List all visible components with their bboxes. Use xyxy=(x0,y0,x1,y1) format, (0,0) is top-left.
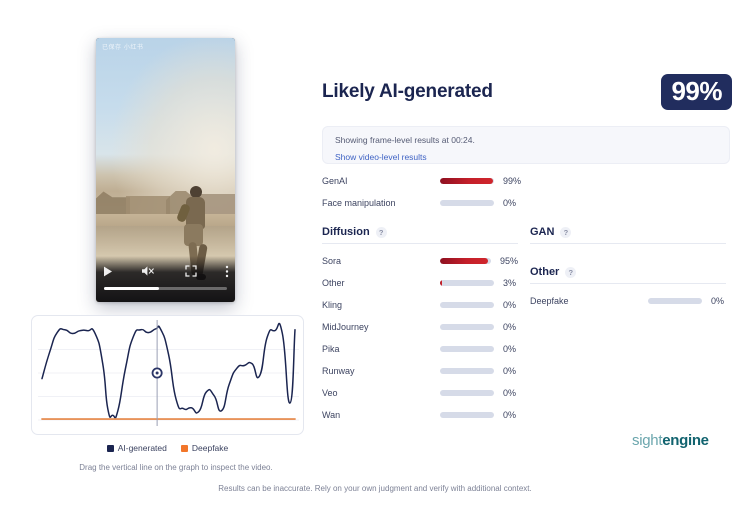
legend-label: AI-generated xyxy=(118,443,167,453)
timeline-chart-card[interactable] xyxy=(31,315,304,435)
diffusion-rows: Sora95%Other3%Kling0%MidJourney0%Pika0%R… xyxy=(322,250,518,426)
metric-bar-track xyxy=(440,280,494,286)
metric-row: Sora95% xyxy=(322,250,518,272)
video-progress-bar[interactable] xyxy=(104,287,227,290)
help-icon[interactable]: ? xyxy=(565,267,576,278)
metric-value: 0% xyxy=(503,344,516,354)
section-title: Other xyxy=(530,266,559,278)
metric-row: Kling0% xyxy=(322,294,518,316)
metric-value: 0% xyxy=(711,296,724,306)
help-icon[interactable]: ? xyxy=(560,227,571,238)
legend-label: Deepfake xyxy=(192,443,228,453)
video-watermark: 已保存 小红书 xyxy=(102,44,143,52)
metric-value: 95% xyxy=(500,256,518,266)
more-options-icon[interactable] xyxy=(225,262,229,280)
metric-row: GenAI99% xyxy=(322,170,522,192)
banner-text: Showing frame-level results at 00:24. xyxy=(335,134,717,147)
metric-value: 99% xyxy=(503,176,521,186)
metric-row: Wan0% xyxy=(322,404,518,426)
metric-value: 0% xyxy=(503,322,516,332)
metric-label: Wan xyxy=(322,410,440,420)
chart-series-ai-generated xyxy=(42,323,295,418)
metric-label: Veo xyxy=(322,388,440,398)
chart-legend: AI-generated Deepfake xyxy=(31,443,304,453)
volume-muted-icon[interactable] xyxy=(141,262,155,280)
other-heading: Other ? xyxy=(530,266,726,283)
legend-item-deepfake: Deepfake xyxy=(181,443,228,453)
section-title: Diffusion xyxy=(322,226,370,238)
play-icon[interactable] xyxy=(103,262,113,280)
results-panel: Likely AI-generated 99% Showing frame-le… xyxy=(318,0,736,521)
metric-bar-track xyxy=(440,178,494,184)
ground-shadow xyxy=(96,226,235,256)
score-badge: 99% xyxy=(661,74,732,110)
other-rows: Deepfake0% xyxy=(530,290,726,312)
legend-swatch-icon xyxy=(107,445,114,452)
logo-part-sight: sight xyxy=(632,432,662,449)
metric-row: MidJourney0% xyxy=(322,316,518,338)
timeline-chart[interactable] xyxy=(32,316,305,434)
metric-bar-track xyxy=(440,324,494,330)
building-silhouette xyxy=(96,190,130,216)
video-progress-fill xyxy=(104,287,159,290)
metric-value: 0% xyxy=(503,388,516,398)
metric-row: Face manipulation0% xyxy=(322,192,522,214)
top-metrics-list: GenAI99%Face manipulation0% xyxy=(322,170,522,214)
video-control-row xyxy=(103,262,228,280)
metric-bar-track xyxy=(440,390,494,396)
chart-hint-text: Drag the vertical line on the graph to i… xyxy=(31,463,321,472)
metric-bar-track xyxy=(440,200,494,206)
legend-swatch-icon xyxy=(181,445,188,452)
diffusion-heading: Diffusion ? xyxy=(322,226,518,243)
metric-bar-track xyxy=(440,412,494,418)
metric-bar-track xyxy=(648,298,702,304)
metric-label: GenAI xyxy=(322,176,440,186)
logo-part-engine: engine xyxy=(662,432,709,449)
metric-row: Deepfake0% xyxy=(530,290,726,312)
metric-bar-fill xyxy=(440,258,488,264)
disclaimer-text: Results can be inaccurate. Rely on your … xyxy=(0,484,750,493)
left-column: 已保存 小红书 xyxy=(0,0,310,521)
metric-label: Pika xyxy=(322,344,440,354)
fullscreen-icon[interactable] xyxy=(185,262,197,280)
metric-label: Sora xyxy=(322,256,440,266)
metric-label: Other xyxy=(322,278,440,288)
verdict-title: Likely AI-generated xyxy=(322,81,493,103)
metric-value: 3% xyxy=(503,278,516,288)
metric-label: Deepfake xyxy=(530,296,648,306)
chart-gridlines xyxy=(38,350,299,421)
diffusion-section: Diffusion ? Sora95%Other3%Kling0%MidJour… xyxy=(322,226,518,426)
verdict-row: Likely AI-generated 99% xyxy=(322,70,732,114)
metric-row: Runway0% xyxy=(322,360,518,382)
metric-bar-fill xyxy=(440,280,442,286)
metric-bar-track xyxy=(440,258,491,264)
chart-playhead-dot xyxy=(156,372,159,375)
metric-bar-track xyxy=(440,368,494,374)
frame-level-banner: Showing frame-level results at 00:24. Sh… xyxy=(322,126,730,164)
sightengine-logo: sightengine xyxy=(632,432,709,449)
metric-label: Kling xyxy=(322,300,440,310)
video-player[interactable]: 已保存 小红书 xyxy=(96,38,235,302)
metric-row: Pika0% xyxy=(322,338,518,360)
legend-item-ai-generated: AI-generated xyxy=(107,443,167,453)
show-video-level-results-link[interactable]: Show video-level results xyxy=(335,151,427,164)
metric-row: Veo0% xyxy=(322,382,518,404)
metric-value: 0% xyxy=(503,366,516,376)
metric-value: 0% xyxy=(503,410,516,420)
other-section: Other ? Deepfake0% xyxy=(530,266,726,312)
section-divider xyxy=(530,243,726,244)
metric-row: Other3% xyxy=(322,272,518,294)
metric-label: MidJourney xyxy=(322,322,440,332)
section-title: GAN xyxy=(530,226,554,238)
gan-section: GAN ? xyxy=(530,226,726,250)
section-divider xyxy=(322,243,518,244)
gan-heading: GAN ? xyxy=(530,226,726,243)
metric-label: Face manipulation xyxy=(322,198,440,208)
video-controls-bar xyxy=(96,256,235,302)
metric-bar-track xyxy=(440,302,494,308)
metric-bar-track xyxy=(440,346,494,352)
metric-label: Runway xyxy=(322,366,440,376)
metric-value: 0% xyxy=(503,300,516,310)
section-divider xyxy=(530,283,726,284)
metric-value: 0% xyxy=(503,198,516,208)
metric-bar-fill xyxy=(440,178,493,184)
help-icon[interactable]: ? xyxy=(376,227,387,238)
